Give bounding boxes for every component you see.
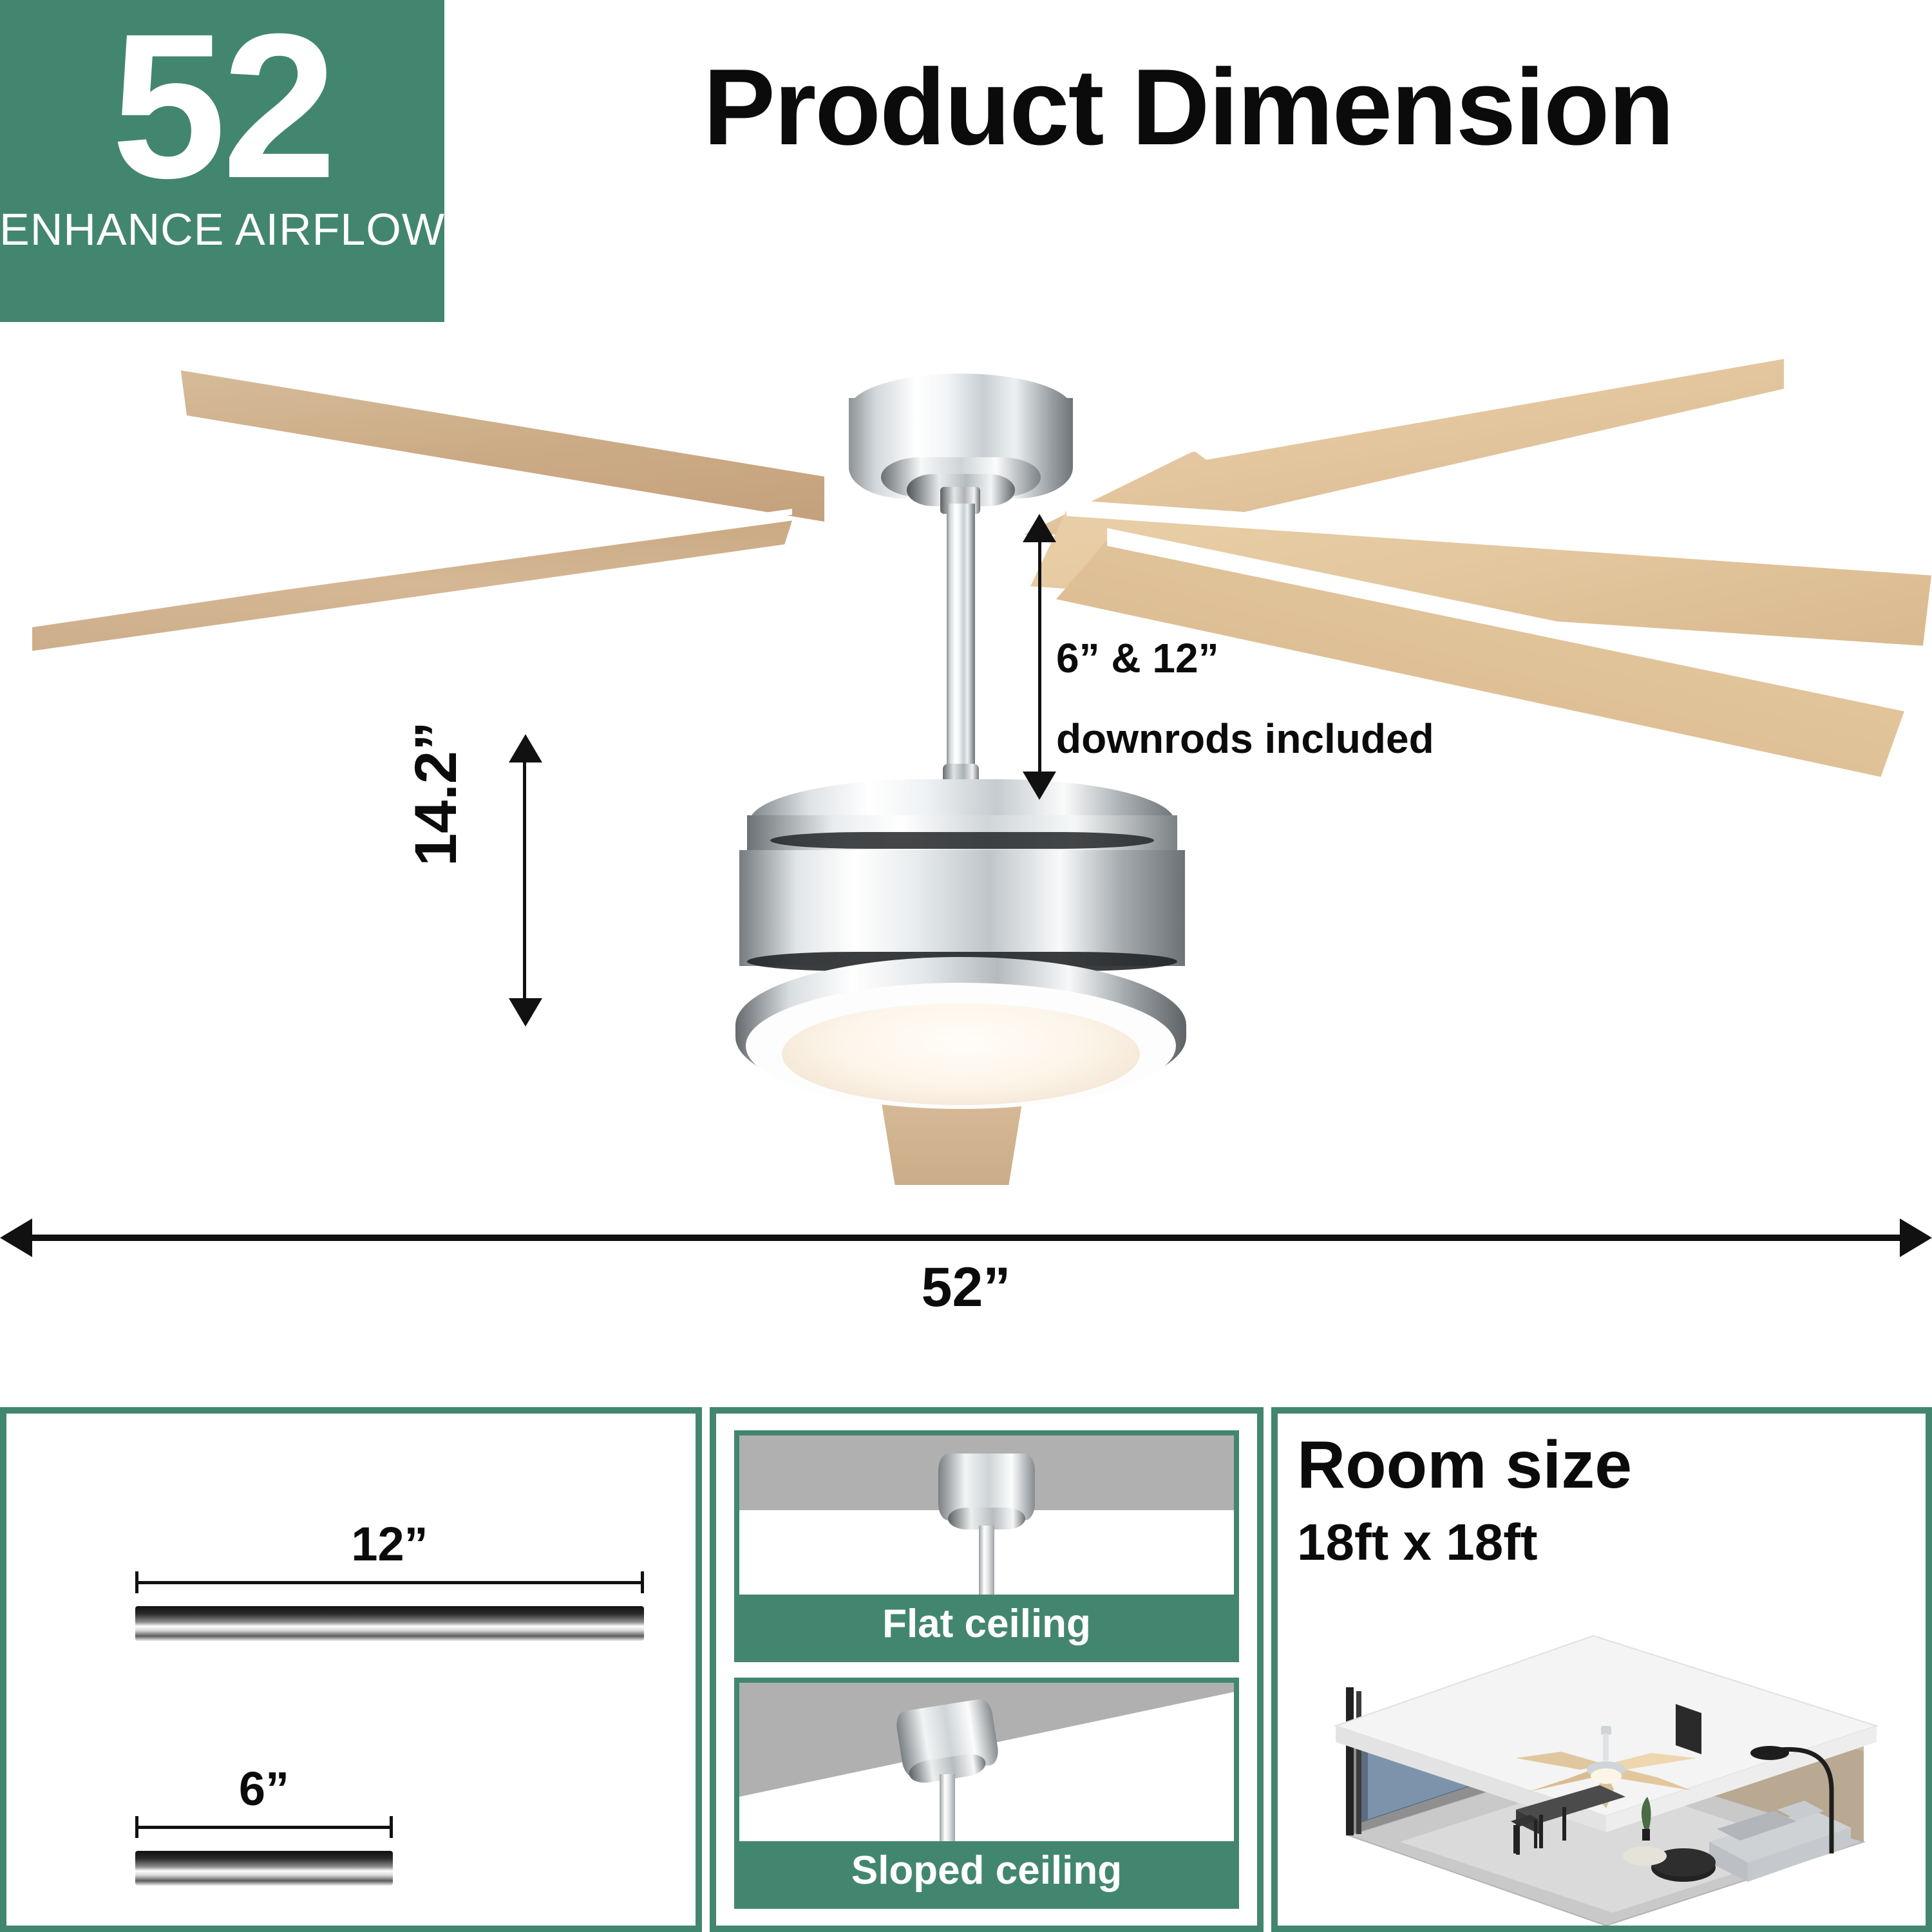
panel-ceiling-types: Flat ceiling Sloped ceiling — [710, 1407, 1264, 1932]
flat-ceiling-card: Flat ceiling — [734, 1430, 1239, 1662]
width-dimension-label: 52” — [0, 1256, 1932, 1320]
sloped-ceiling-card: Sloped ceiling — [734, 1678, 1239, 1909]
downrod-6-block: 6” — [135, 1761, 393, 1886]
panel-room-size: Room size 18ft x 18ft — [1271, 1407, 1932, 1932]
light-kit-lens — [782, 1003, 1140, 1105]
downrod-12-block: 12” — [135, 1517, 644, 1641]
flat-ceiling-art — [739, 1435, 1234, 1595]
room-scene-illustration — [1323, 1565, 1883, 1926]
sloped-ceiling-caption: Sloped ceiling — [739, 1841, 1234, 1904]
room-size-title: Room size — [1297, 1432, 1906, 1499]
downrod-6-tube — [135, 1851, 393, 1886]
page-title: Product Dimension — [444, 45, 1932, 169]
fan-blade-lower-left — [32, 509, 792, 657]
downrod-6-label: 6” — [135, 1761, 393, 1816]
flat-ceiling-caption: Flat ceiling — [739, 1595, 1234, 1657]
downrod-note-line2: downrods included — [1056, 699, 1468, 779]
badge-number: 52 — [111, 5, 333, 207]
downrod-12-label: 12” — [135, 1517, 644, 1571]
size-badge: 52 ENHANCE AIRFLOW — [0, 0, 444, 322]
downrod — [947, 504, 975, 774]
downrod-12-tube — [135, 1606, 644, 1641]
downrod-12-extent — [135, 1571, 644, 1593]
flat-downrod-icon — [979, 1526, 994, 1595]
sloped-ceiling-art — [739, 1683, 1234, 1842]
badge-caption: ENHANCE AIRFLOW — [0, 204, 445, 255]
product-illustration: 6” & 12” downrods included 14.2” 52” — [0, 335, 1932, 1365]
fan-blade-upper-left — [180, 361, 824, 522]
sloped-downrod-icon — [940, 1774, 955, 1842]
downrod-note: 6” & 12” downrods included — [1056, 618, 1468, 779]
motor-housing-body — [739, 850, 1185, 966]
room-size-subtitle: 18ft x 18ft — [1297, 1513, 1906, 1572]
bottom-panel-row: 12” 6” Fla — [0, 1407, 1932, 1932]
panel-downrods: 12” 6” — [0, 1407, 702, 1932]
downrod-6-extent — [135, 1816, 393, 1838]
downrod-note-line1: 6” & 12” — [1056, 618, 1468, 699]
motor-accent-ring-upper — [770, 832, 1154, 849]
height-dimension-label: 14.2” — [402, 721, 470, 866]
